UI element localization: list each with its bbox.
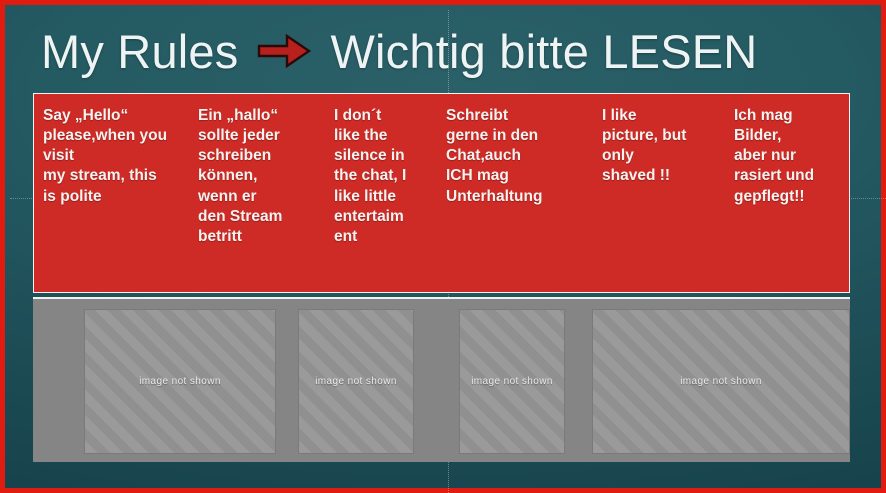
rules-columns: Say „Hello“ please,when you visit my str… — [34, 94, 849, 292]
photo-placeholder-label: image not shown — [309, 375, 403, 388]
photo-strip: image not shown image not shown image no… — [33, 297, 850, 462]
title-right: Wichtig bitte LESEN — [330, 28, 757, 75]
photo-placeholder-1: image not shown — [84, 309, 276, 454]
slide-canvas: My Rules Wichtig bitte LESEN Say „Hello“… — [5, 5, 881, 488]
photo-placeholder-label: image not shown — [674, 375, 768, 388]
photo-placeholder-2: image not shown — [298, 309, 414, 454]
photo-placeholder-3: image not shown — [459, 309, 565, 454]
photo-placeholder-label: image not shown — [133, 375, 227, 388]
slide: My Rules Wichtig bitte LESEN Say „Hello“… — [0, 0, 886, 493]
photo-placeholder-label: image not shown — [465, 375, 559, 388]
rules-banner: Say „Hello“ please,when you visit my str… — [33, 93, 850, 293]
rule-column-6: Ich mag Bilder, aber nur rasiert und gep… — [734, 106, 850, 207]
rule-column-3: I don´t like the silence in the chat, I … — [334, 106, 440, 247]
rule-column-2: Ein „hallo“ sollte jeder schreiben könne… — [198, 106, 330, 247]
page-title: My Rules Wichtig bitte LESEN — [41, 17, 861, 85]
title-left: My Rules — [41, 28, 238, 75]
photo-placeholder-4: image not shown — [592, 309, 850, 454]
rule-column-1: Say „Hello“ please,when you visit my str… — [43, 106, 193, 207]
rule-column-5: I like picture, but only shaved !! — [602, 106, 726, 187]
right-arrow-icon — [256, 33, 312, 69]
rule-column-4: Schreibt gerne in den Chat,auch ICH mag … — [446, 106, 598, 207]
